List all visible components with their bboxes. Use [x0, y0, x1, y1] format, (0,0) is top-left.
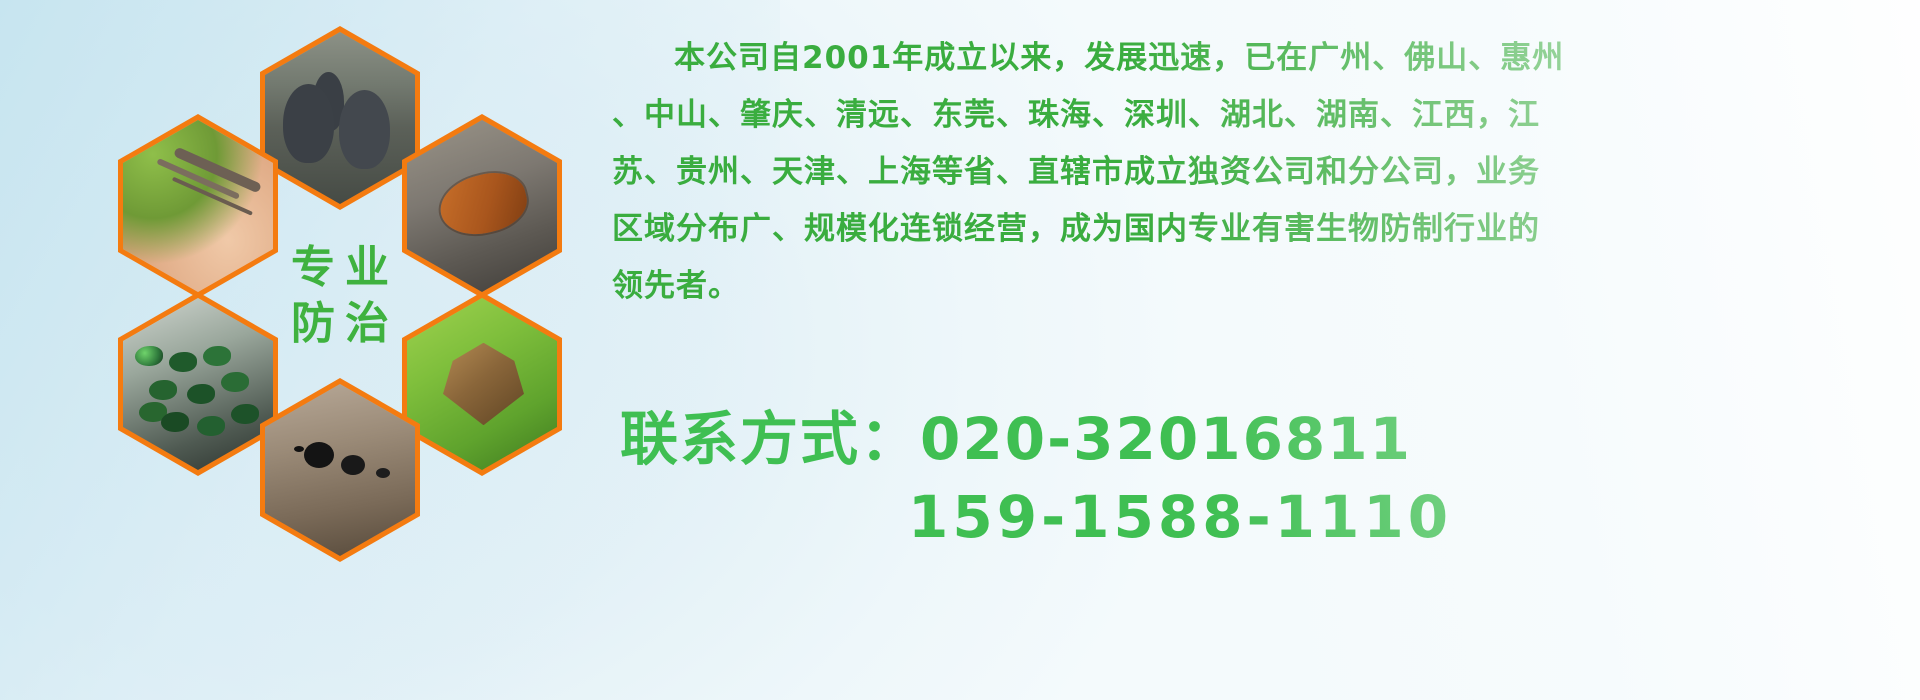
promo-banner: 专业 防治 本公司自2001年成立以来，发展迅速，已在广州、佛山、惠州 、中山、… [0, 0, 1920, 700]
rats-photo-icon [265, 32, 415, 204]
hex-image-mosquito [123, 120, 273, 292]
mosquito-photo-icon [123, 120, 273, 292]
slogan-line-1: 专业 [281, 245, 399, 291]
contact-phone-landline[interactable]: 联系方式：020-32016811 [620, 400, 1920, 478]
hex-cell-flies [118, 292, 278, 476]
intro-line-2: 、中山、肇庆、清远、东莞、珠海、深圳、湖北、湖南、江西，江 [612, 87, 1912, 144]
intro-line-4: 区域分布广、规模化连锁经营，成为国内专业有害生物防制行业的 [612, 201, 1912, 258]
hex-center-slogan: 专业 防治 [260, 204, 420, 388]
stinkbug-photo-icon [407, 298, 557, 470]
hex-cell-rats [260, 26, 420, 210]
cockroach-photo-icon [407, 120, 557, 292]
intro-line-1: 本公司自2001年成立以来，发展迅速，已在广州、佛山、惠州 [612, 30, 1912, 87]
intro-line-3: 苏、贵州、天津、上海等省、直辖市成立独资公司和分公司，业务 [612, 144, 1912, 201]
flies-photo-icon [123, 298, 273, 470]
hex-cell-mosquito [118, 114, 278, 298]
hex-cell-stinkbug [402, 292, 562, 476]
company-intro: 本公司自2001年成立以来，发展迅速，已在广州、佛山、惠州 、中山、肇庆、清远、… [612, 30, 1912, 315]
contact-phone-mobile[interactable]: 159-1588-1110 [620, 478, 1920, 556]
hex-cell-cockroach [402, 114, 562, 298]
intro-line-5: 领先者。 [612, 258, 1912, 315]
hex-image-stinkbug [407, 298, 557, 470]
hex-photo-cluster: 专业 防治 [90, 10, 590, 570]
hex-image-rats [265, 32, 415, 204]
contact-block: 联系方式：020-32016811 159-1588-1110 [620, 400, 1920, 556]
ant-photo-icon [265, 384, 415, 556]
hex-image-cockroach [407, 120, 557, 292]
hex-image-ant [265, 384, 415, 556]
hex-image-flies [123, 298, 273, 470]
slogan-line-2: 防治 [281, 301, 399, 347]
hex-cell-ant [260, 378, 420, 562]
